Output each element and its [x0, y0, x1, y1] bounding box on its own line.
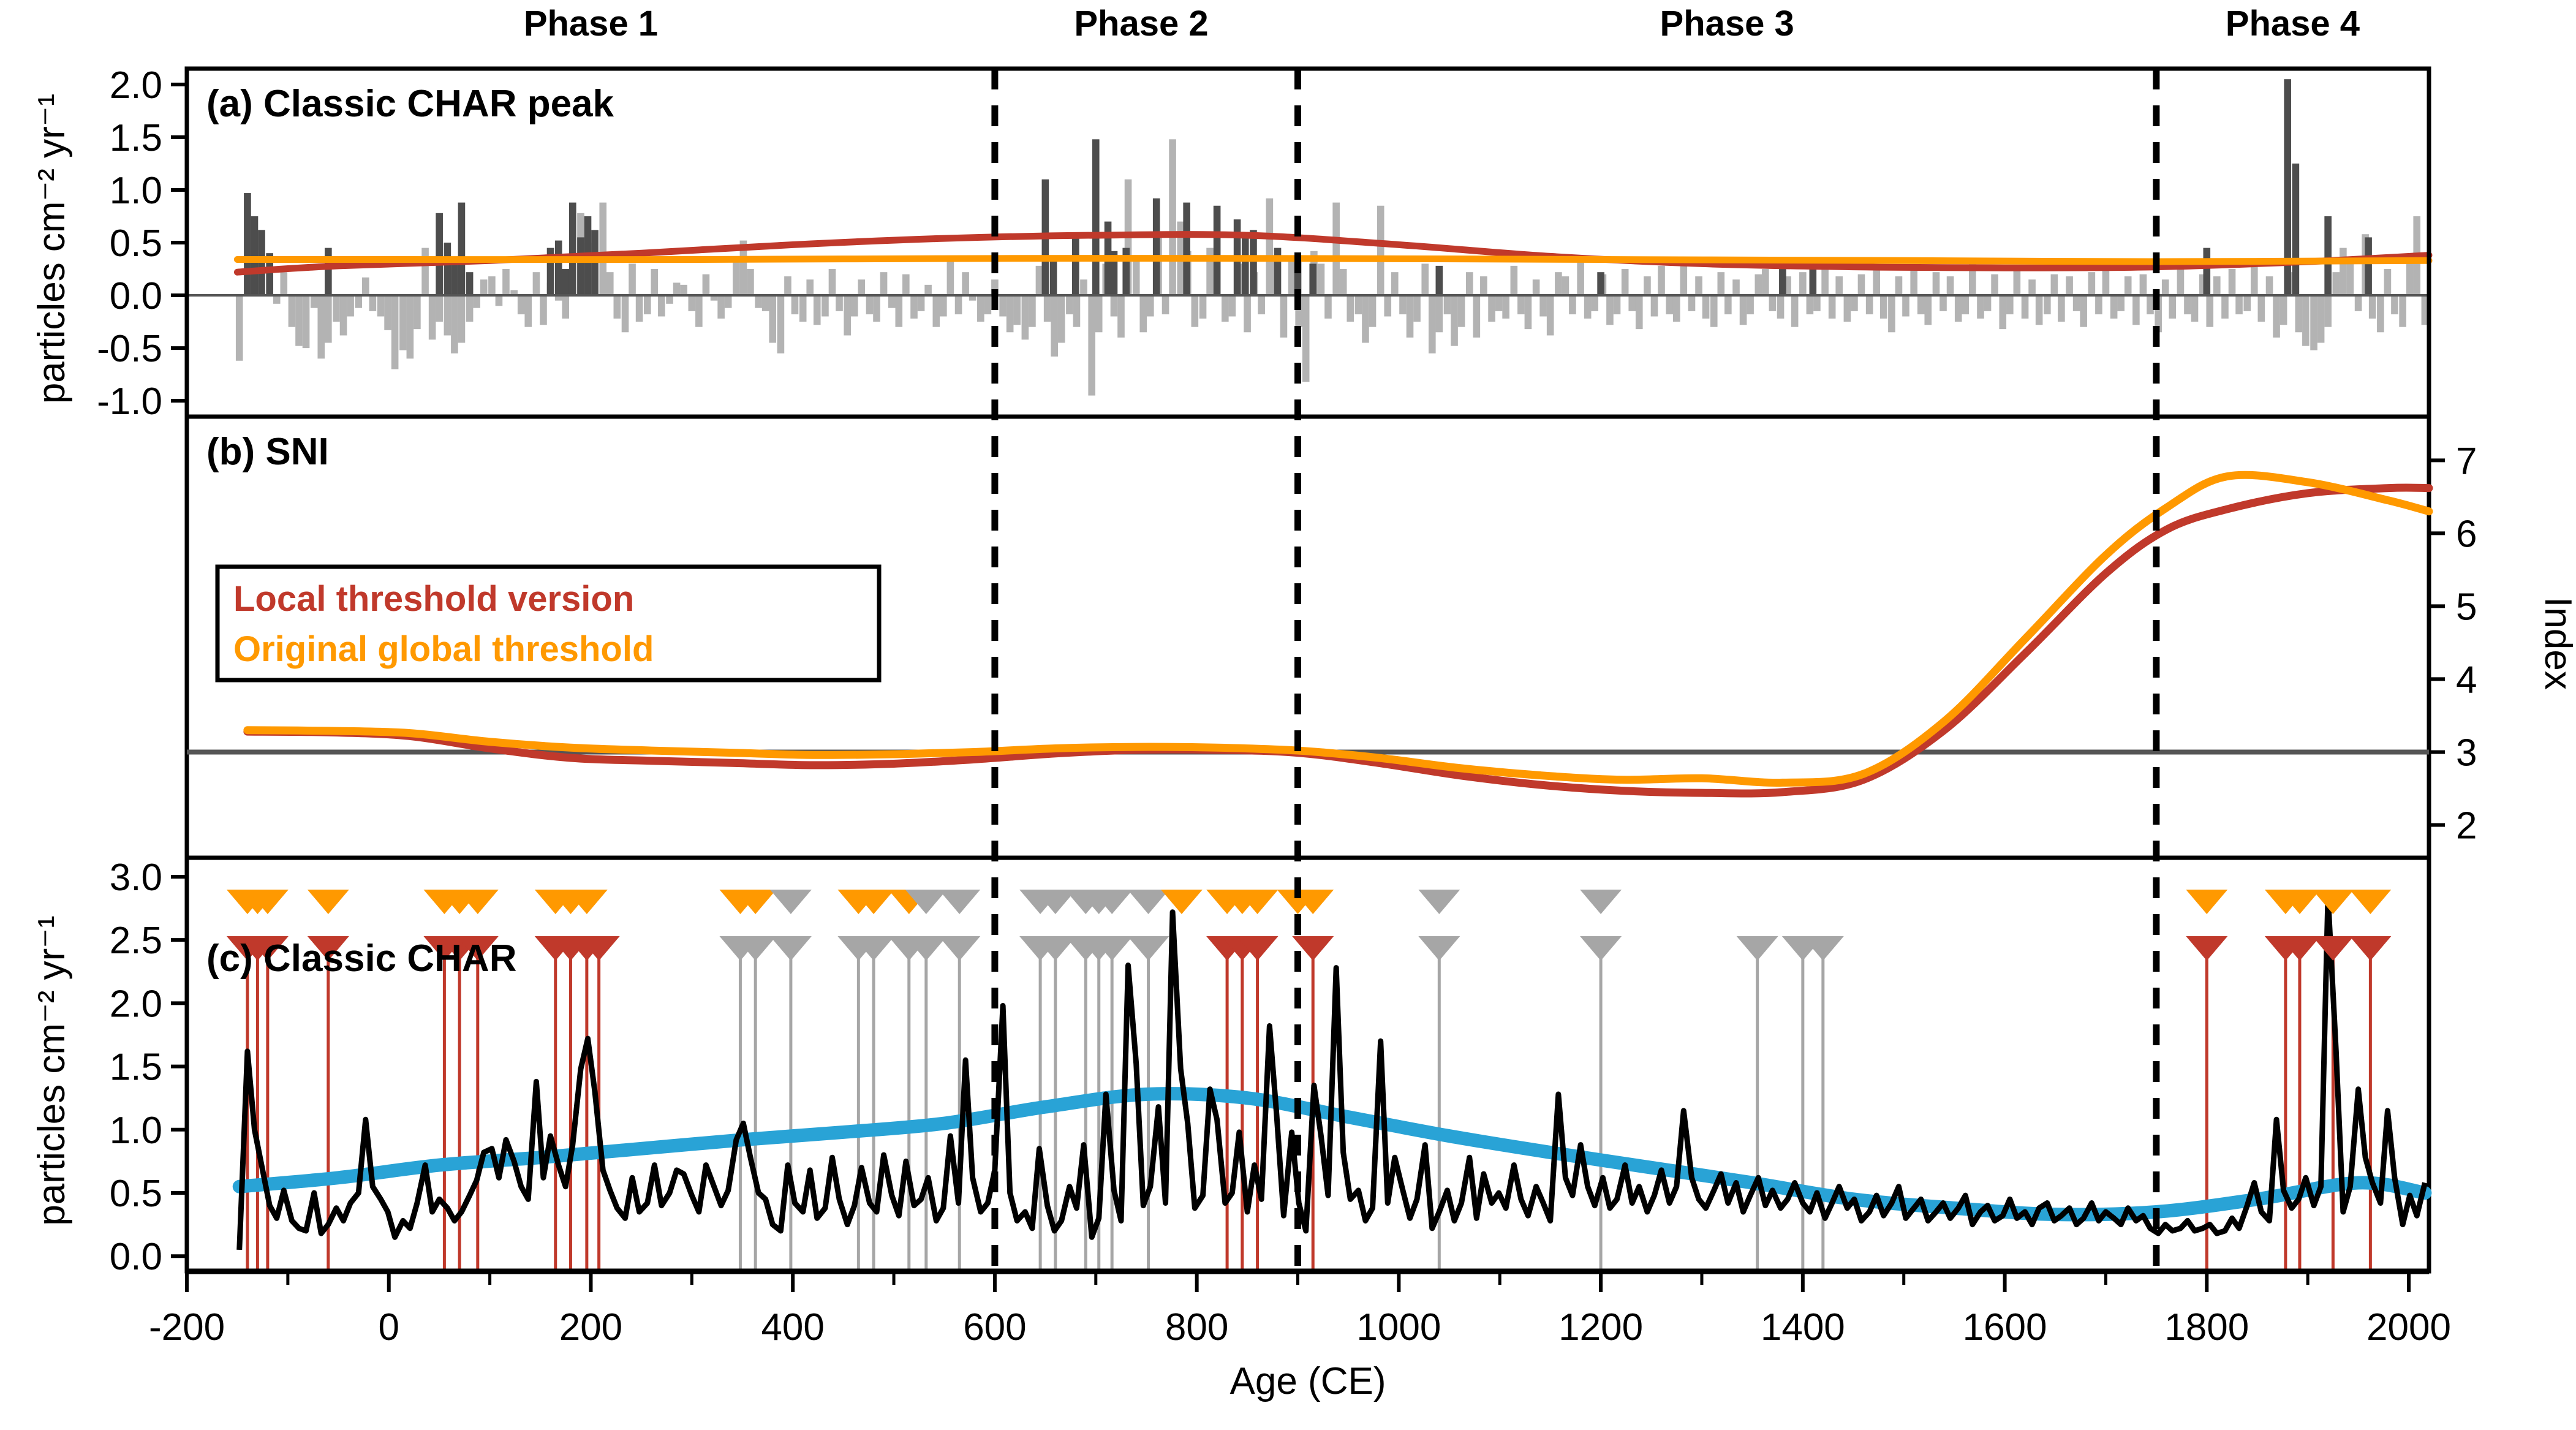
global-threshold-marker: [1161, 890, 1203, 914]
peak-bar: [1779, 269, 1786, 295]
residual-bar: [2184, 295, 2191, 314]
x-tick-label: 400: [761, 1306, 824, 1349]
residual-bar: [1539, 295, 1547, 316]
y-tick-label-panel-b: 6: [2456, 513, 2477, 555]
residual-bar: [273, 295, 281, 304]
residual-bar: [1799, 272, 1807, 295]
residual-bar: [1488, 295, 1495, 322]
residual-bar: [1355, 295, 1362, 314]
residual-bar: [466, 295, 474, 322]
global-threshold-marker: [1418, 890, 1460, 914]
residual-bar: [2213, 276, 2221, 295]
peak-bar: [569, 203, 576, 295]
right-axis-label: Index: [2537, 597, 2576, 690]
residual-bar: [1673, 295, 1680, 322]
residual-bar: [622, 295, 629, 332]
peak-bar: [2365, 237, 2372, 295]
peak-bar: [1810, 266, 1817, 295]
residual-bar: [1902, 295, 1909, 316]
x-tick-label: 1400: [1761, 1306, 1845, 1349]
residual-bar: [1636, 295, 1643, 329]
residual-bar: [1117, 295, 1125, 338]
y-tick-label-panel-a: 0.0: [110, 275, 162, 317]
residual-bar: [1169, 139, 1176, 295]
panel-b-title: (b) SNI: [206, 431, 329, 473]
residual-bar: [1666, 295, 1673, 314]
peak-bar: [1214, 206, 1221, 295]
residual-bar: [2302, 295, 2310, 346]
residual-bar: [2266, 276, 2273, 295]
y-axis-label-panel-a: particles cm⁻² yr⁻¹: [31, 94, 73, 404]
residual-bar: [880, 272, 888, 295]
residual-bar: [2044, 295, 2051, 314]
residual-bar: [940, 295, 947, 316]
residual-bar: [429, 295, 436, 339]
residual-bar: [1577, 262, 1584, 295]
residual-bar: [2377, 295, 2384, 332]
peak-bar: [555, 241, 562, 296]
residual-bar: [1910, 269, 1917, 295]
residual-bar: [1917, 295, 1925, 314]
residual-bar: [2273, 295, 2280, 338]
residual-bar: [1332, 203, 1340, 295]
residual-bar: [1724, 295, 1732, 314]
residual-bar: [2310, 295, 2317, 350]
residual-bar: [2340, 248, 2347, 295]
residual-bar: [784, 276, 791, 295]
residual-bar: [1807, 295, 1814, 314]
residual-bar: [1769, 295, 1777, 311]
residual-bar: [755, 295, 762, 308]
y-tick-label-panel-a: 1.5: [110, 117, 162, 159]
y-axis-label-panel-c: particles cm⁻² yr⁻¹: [31, 915, 73, 1225]
y-tick-label-panel-b: 7: [2456, 440, 2477, 482]
residual-bar: [2028, 279, 2036, 295]
panel-c-title: (c) Classic CHAR: [206, 937, 516, 980]
x-tick-label: 0: [378, 1306, 399, 1349]
peak-bar: [251, 216, 259, 295]
residual-bar: [377, 295, 385, 316]
residual-bar: [303, 295, 310, 348]
residual-bar: [1547, 295, 1554, 335]
peak-bar: [451, 263, 458, 295]
residual-bar: [2243, 295, 2251, 311]
residual-bar: [236, 295, 243, 361]
residual-bar: [1391, 272, 1399, 295]
residual-bar: [1036, 266, 1043, 295]
residual-bar: [689, 295, 696, 311]
residual-bar: [1421, 263, 1429, 295]
residual-bar: [799, 295, 807, 322]
residual-bar: [910, 295, 918, 319]
peak-bar: [1436, 266, 1443, 295]
local-threshold-marker: [2186, 936, 2227, 961]
residual-bar: [2399, 295, 2406, 327]
peak-bar: [2203, 248, 2210, 295]
peak-bar: [244, 193, 251, 295]
residual-bar: [2073, 295, 2080, 311]
residual-bar: [1466, 272, 1473, 295]
peak-bar: [1250, 230, 1257, 295]
residual-bar: [2229, 269, 2236, 295]
residual-bar: [1829, 295, 1836, 319]
residual-bar: [1258, 295, 1265, 314]
residual-bar: [1717, 272, 1724, 295]
phase-label-2: Phase 2: [1074, 4, 1208, 44]
local-threshold-marker: [1580, 936, 1622, 961]
x-tick-label: 1200: [1558, 1306, 1643, 1349]
residual-bar: [2066, 276, 2073, 295]
peak-bar: [325, 248, 332, 295]
y-tick-label-panel-c: 2.5: [110, 920, 162, 962]
phase-label-4: Phase 4: [2226, 4, 2360, 44]
residual-bar: [851, 295, 858, 316]
residual-bar: [806, 279, 814, 295]
residual-bar: [695, 295, 703, 327]
residual-bar: [918, 295, 925, 311]
residual-bar: [289, 295, 296, 327]
local-threshold-marker: [1128, 936, 1169, 961]
residual-bar: [1162, 295, 1169, 314]
peak-bar: [2292, 164, 2300, 295]
residual-bar: [2117, 295, 2125, 311]
residual-bar: [355, 295, 362, 308]
residual-bar: [1362, 295, 1369, 342]
residual-bar: [1324, 295, 1332, 319]
residual-bar: [1933, 272, 1940, 295]
residual-bar: [384, 295, 391, 330]
global-threshold-marker: [308, 890, 349, 914]
residual-bar: [2058, 295, 2065, 322]
residual-bar: [480, 279, 488, 295]
y-tick-label-panel-a: 0.5: [110, 222, 162, 265]
residual-bar: [436, 295, 443, 322]
x-tick-label: 600: [963, 1306, 1026, 1349]
residual-bar: [1562, 276, 1569, 295]
residual-bar: [1111, 295, 1118, 316]
residual-bar: [1710, 295, 1718, 327]
residual-bar: [962, 272, 969, 295]
residual-bar: [858, 279, 865, 295]
x-tick-label: 2000: [2366, 1306, 2451, 1349]
residual-bar: [1266, 199, 1274, 295]
residual-bar: [2132, 295, 2140, 325]
residual-bar: [1495, 295, 1503, 311]
residual-bar: [311, 295, 318, 308]
global-threshold-marker: [2312, 890, 2354, 914]
residual-bar: [2006, 295, 2014, 314]
residual-bar: [673, 282, 681, 295]
residual-bar: [747, 269, 754, 295]
residual-bar: [924, 285, 932, 295]
residual-bar: [2221, 295, 2229, 319]
residual-bar: [1569, 295, 1576, 314]
residual-bar: [1622, 269, 1629, 295]
residual-bar: [1192, 295, 1199, 327]
peak-bar: [1183, 203, 1190, 295]
residual-bar: [421, 248, 429, 295]
panel-a-title: (a) Classic CHAR peak: [206, 83, 614, 125]
y-tick-label-panel-c: 2.0: [110, 983, 162, 1025]
residual-bar: [1740, 295, 1747, 325]
local-threshold-marker: [2349, 936, 2391, 961]
y-tick-label-panel-a: 1.0: [110, 170, 162, 212]
global-threshold-marker: [939, 890, 980, 914]
residual-bar: [866, 295, 874, 314]
legend-label-0: Local threshold version: [233, 579, 634, 619]
residual-bar: [791, 295, 799, 314]
residual-bar: [2177, 266, 2185, 295]
peak-bar: [1274, 248, 1282, 295]
y-tick-label-panel-c: 3.0: [110, 857, 162, 899]
residual-bar: [1058, 295, 1065, 342]
residual-bar: [2162, 279, 2169, 295]
residual-bar: [488, 276, 496, 295]
figure-root: -1.0-0.50.00.51.01.52.0particles cm⁻² yr…: [0, 0, 2576, 1430]
residual-bar: [1955, 295, 1962, 322]
residual-bar: [1644, 276, 1651, 295]
global-threshold-curve-a: [237, 259, 2429, 262]
residual-bar: [1073, 295, 1081, 327]
peak-bar: [1092, 139, 1100, 295]
residual-bar: [1302, 295, 1310, 382]
residual-bar: [606, 272, 614, 295]
phase-label-3: Phase 3: [1660, 4, 1794, 44]
residual-bar: [733, 259, 740, 295]
residual-bar: [644, 295, 651, 314]
peak-bar: [1050, 262, 1057, 295]
residual-bar: [1754, 274, 1762, 295]
residual-bar: [2147, 295, 2154, 314]
residual-bar: [317, 295, 325, 358]
residual-bar: [1747, 295, 1754, 314]
residual-bar: [1022, 295, 1029, 339]
residual-bar: [533, 272, 540, 295]
residual-bar: [814, 295, 821, 325]
residual-bar: [725, 295, 732, 308]
y-tick-label-panel-b: 5: [2456, 586, 2477, 628]
global-threshold-marker: [1580, 890, 1622, 914]
residual-bar: [1147, 295, 1154, 316]
x-tick-label: 1800: [2164, 1306, 2249, 1349]
residual-bar: [1977, 295, 1984, 319]
residual-bar: [703, 274, 710, 295]
residual-bar: [888, 295, 896, 308]
residual-bar: [777, 295, 785, 354]
residual-bar: [1473, 295, 1481, 338]
residual-bar: [1880, 295, 1887, 319]
y-tick-label-panel-c: 1.0: [110, 1110, 162, 1152]
local-threshold-marker: [2312, 936, 2354, 961]
residual-bar: [1695, 276, 1702, 295]
y-tick-label-panel-b: 4: [2456, 659, 2477, 701]
residual-bar: [1029, 295, 1036, 327]
residual-bar: [1762, 269, 1769, 295]
residual-bar: [2080, 295, 2087, 327]
residual-bar: [340, 295, 347, 335]
residual-bar: [658, 295, 665, 316]
residual-bar: [2251, 263, 2258, 295]
peak-bar: [1597, 272, 1604, 295]
residual-bar: [2258, 295, 2265, 322]
x-tick-label: 200: [559, 1306, 622, 1349]
residual-bar: [1280, 295, 1288, 338]
peak-bar: [466, 272, 474, 295]
residual-bar: [2333, 272, 2340, 295]
y-tick-label-panel-c: 0.5: [110, 1173, 162, 1215]
residual-bar: [873, 295, 880, 322]
residual-bar: [1080, 279, 1087, 295]
residual-bar: [769, 295, 776, 342]
residual-bar: [1139, 295, 1147, 332]
residual-bar: [1288, 259, 1296, 295]
peak-bar: [1309, 263, 1316, 295]
global-threshold-marker: [2186, 890, 2227, 914]
peak-bar: [577, 237, 584, 295]
multi-panel-chart: -1.0-0.50.00.51.01.52.0particles cm⁻² yr…: [0, 0, 2576, 1430]
residual-bar: [614, 295, 621, 319]
residual-bar: [1688, 295, 1696, 311]
residual-bar: [1844, 295, 1851, 322]
residual-bar: [2088, 272, 2096, 295]
residual-bar: [333, 295, 340, 322]
residual-bar: [2206, 295, 2213, 327]
residual-bar: [1044, 295, 1051, 322]
residual-bar: [1413, 295, 1421, 322]
residual-bar: [280, 272, 287, 295]
residual-bar: [2317, 295, 2325, 342]
residual-bar: [2051, 274, 2058, 295]
residual-bar: [1555, 272, 1562, 295]
residual-bar: [1777, 295, 1785, 319]
residual-bar: [895, 295, 902, 327]
residual-bar: [1480, 276, 1487, 295]
local-threshold-marker: [770, 936, 812, 961]
peak-bar: [1242, 237, 1249, 295]
residual-bar: [1984, 295, 1992, 311]
residual-bar: [2022, 295, 2029, 319]
residual-bar: [1999, 295, 2006, 329]
x-axis-label: Age (CE): [1230, 1360, 1386, 1402]
residual-bar: [524, 295, 532, 327]
residual-bar: [822, 295, 829, 316]
residual-bar: [1199, 295, 1207, 319]
x-tick-label: 1600: [1963, 1306, 2047, 1349]
residual-bar: [636, 295, 643, 322]
residual-bar: [1347, 295, 1354, 322]
residual-bar: [2014, 269, 2021, 295]
peak-bar: [436, 213, 443, 295]
residual-bar: [295, 295, 303, 346]
residual-bar: [1502, 295, 1509, 319]
residual-bar: [1007, 295, 1014, 332]
y-tick-label-panel-c: 1.5: [110, 1046, 162, 1089]
residual-bar: [451, 295, 458, 354]
residual-bar: [1888, 295, 1895, 332]
residual-bar: [947, 259, 954, 295]
residual-bar: [2384, 269, 2392, 295]
residual-bar: [518, 295, 525, 314]
residual-bar: [2280, 295, 2287, 325]
residual-bar: [1451, 295, 1458, 346]
residual-bar: [1606, 295, 1614, 325]
y-tick-label-panel-a: 2.0: [110, 64, 162, 107]
residual-bar: [1895, 276, 1903, 295]
residual-bar: [2355, 295, 2362, 311]
residual-bar: [666, 295, 673, 304]
residual-bar: [540, 295, 547, 325]
local-threshold-marker: [939, 936, 980, 961]
residual-bar: [844, 295, 851, 335]
residual-bar: [599, 203, 606, 295]
residual-bar: [680, 285, 687, 295]
y-tick-label-panel-b: 3: [2456, 732, 2477, 774]
global-threshold-marker: [2349, 890, 2391, 914]
residual-bar: [1651, 295, 1658, 316]
residual-bar: [829, 269, 836, 295]
residual-bar: [1051, 295, 1058, 357]
residual-bar: [458, 295, 466, 342]
residual-bar: [1591, 295, 1598, 311]
peak-bar: [2324, 216, 2332, 295]
residual-bar: [399, 295, 407, 350]
residual-bar: [1835, 276, 1843, 295]
residual-bar: [902, 274, 910, 295]
residual-bar: [1517, 295, 1525, 314]
residual-bar: [407, 295, 414, 358]
residual-bar: [1924, 295, 1932, 325]
residual-bar: [1444, 295, 1451, 314]
residual-bar: [984, 295, 992, 314]
global-threshold-marker: [1128, 890, 1169, 914]
y-tick-label-panel-a: -1.0: [97, 380, 162, 423]
residual-bar: [2110, 295, 2118, 319]
residual-bar: [2191, 295, 2199, 322]
residual-bar: [1991, 274, 1998, 295]
residual-bar: [1377, 206, 1384, 295]
x-tick-label: -200: [149, 1306, 225, 1349]
residual-bar: [1369, 295, 1377, 327]
residual-bar: [414, 295, 421, 329]
residual-bar: [2036, 295, 2043, 325]
residual-bar: [1791, 295, 1799, 327]
residual-bar: [1436, 295, 1443, 332]
residual-bar: [977, 295, 984, 322]
residual-bar: [2102, 269, 2110, 295]
residual-bar: [1584, 295, 1592, 319]
residual-bar: [1525, 295, 1532, 329]
residual-bar: [2095, 295, 2102, 314]
residual-bar: [1821, 266, 1829, 295]
global-threshold-marker: [770, 890, 812, 914]
residual-bar: [1384, 295, 1391, 316]
peak-bar: [1072, 237, 1079, 295]
residual-bar: [1095, 295, 1103, 332]
residual-bar: [651, 269, 659, 295]
residual-bar: [955, 295, 962, 314]
x-tick-label: 1000: [1356, 1306, 1441, 1349]
residual-bar: [1858, 274, 1865, 295]
residual-bar: [2295, 295, 2303, 332]
y-tick-label-panel-a: -0.5: [97, 328, 162, 370]
residual-bar: [562, 295, 569, 319]
residual-bar: [999, 295, 1007, 316]
residual-bar: [717, 295, 725, 319]
residual-bar: [502, 269, 510, 295]
local-threshold-marker: [1418, 936, 1460, 961]
residual-bar: [2169, 295, 2176, 319]
residual-bar: [1628, 295, 1636, 311]
